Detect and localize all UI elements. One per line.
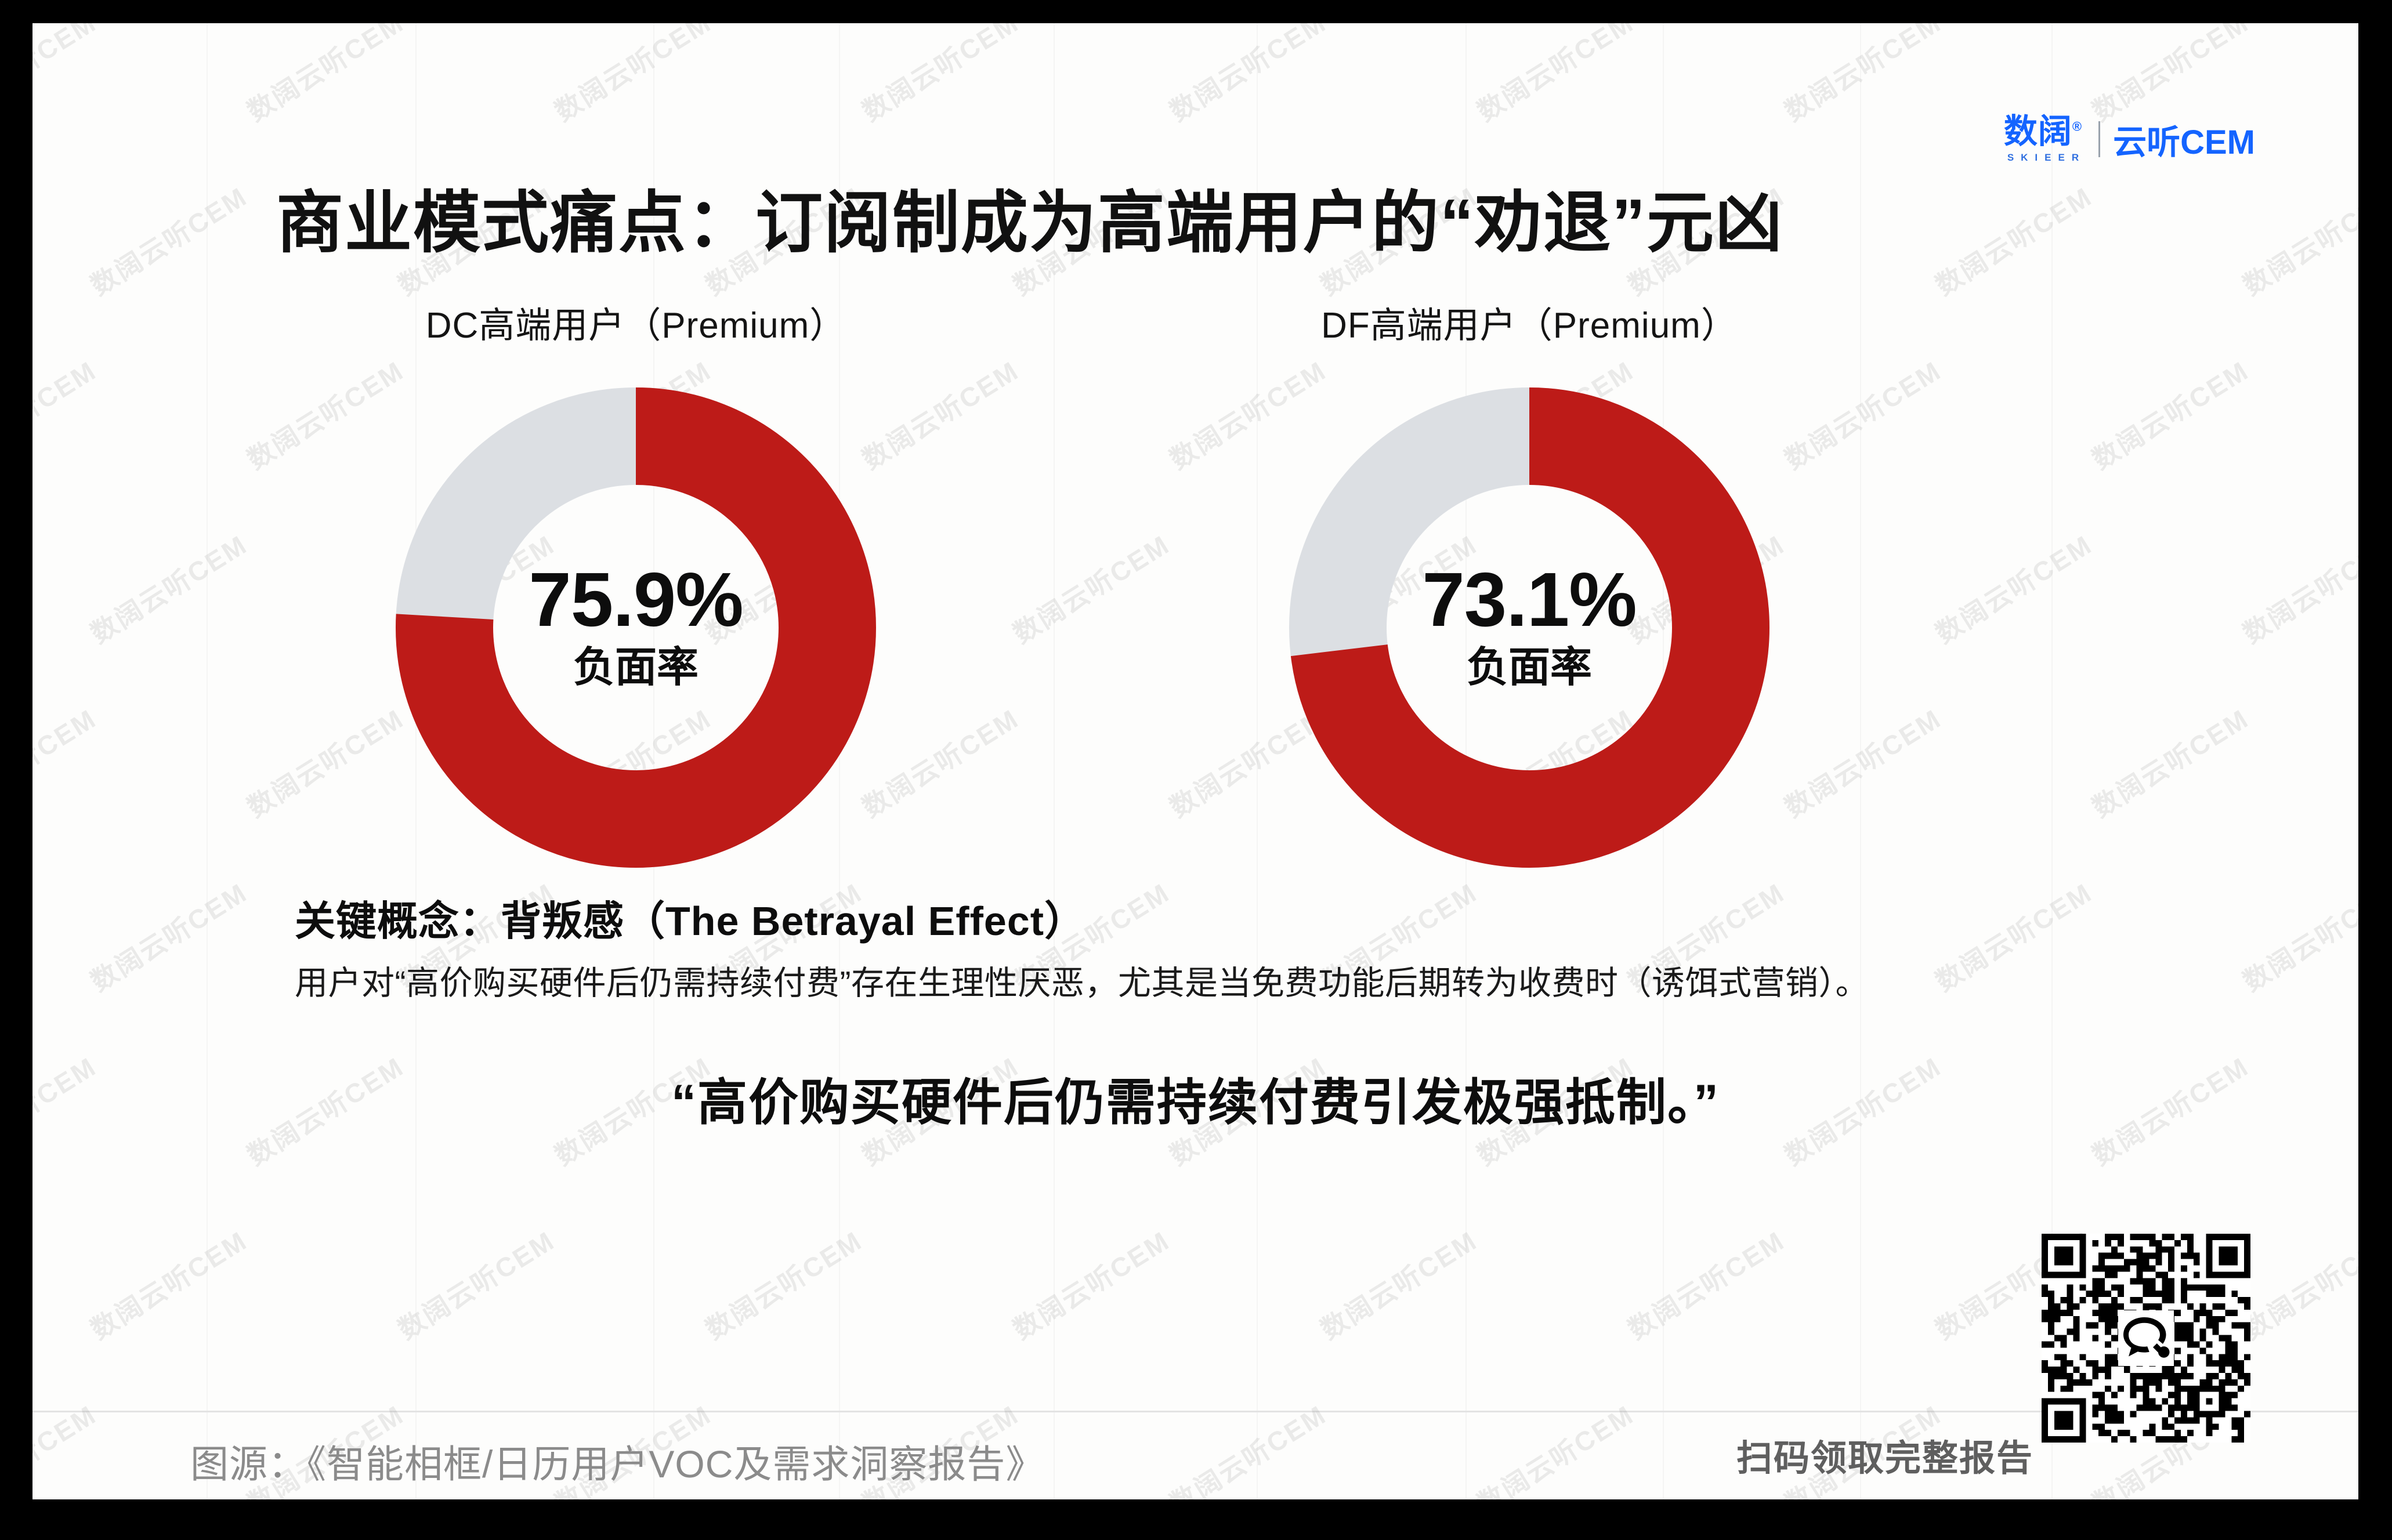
slide-canvas: 数阔® SKIEER 云听CEM 商业模式痛点：订阅制成为高端用户的“劝退”元凶… [32,23,2358,1499]
donut-value-dc: 75.9% [529,561,743,638]
watermark-text: 数阔云听CEM [697,1220,869,1347]
watermark-text: 数阔云听CEM [32,350,103,477]
footer-source-text: 图源：《智能相框/日历用户VOC及需求洞察报告》 [190,1433,1044,1489]
watermark-text: 数阔云听CEM [547,23,718,129]
footer-cta-text: 扫码领取完整报告 [1736,1429,2033,1481]
donut-center-dc: 75.9% 负面率 [392,384,880,871]
footer-divider [32,1411,2358,1412]
watermark-text: 数阔云听CEM [32,23,103,129]
chart-panel-df: DF高端用户（Premium） 73.1% 负面率 [1123,296,1935,871]
chart-title-dc: DC高端用户（Premium） [230,296,1042,348]
brand-logo: 数阔® SKIEER 云听CEM [2000,115,2255,164]
watermark-text: 数阔云听CEM [2235,1220,2358,1347]
watermark-text: 数阔云听CEM [2084,350,2256,477]
watermark-text: 数阔云听CEM [1161,23,1333,129]
chart-panel-dc: DC高端用户（Premium） 75.9% 负面率 [230,296,1042,871]
watermark-text: 数阔云听CEM [82,872,254,999]
watermark-text: 数阔云听CEM [1620,1220,1792,1347]
donut-chart-df: 73.1% 负面率 [1286,384,1773,871]
watermark-text: 数阔云听CEM [1469,1394,1641,1499]
donut-sublabel-dc: 负面率 [573,642,699,694]
registered-trademark-icon: ® [2072,119,2082,134]
pull-quote: “高价购买硬件后仍需持续付费引发极强抵制。” [32,1061,2358,1134]
watermark-text: 数阔云听CEM [1005,1220,1177,1347]
brand-name-cn: 数阔® [2004,115,2082,148]
donut-center-df: 73.1% 负面率 [1286,384,1773,871]
product-name: 云听CEM [2113,115,2255,164]
watermark-text: 数阔云听CEM [1469,23,1641,129]
logo-divider [2098,121,2100,157]
brand-mark: 数阔® SKIEER [2000,115,2086,164]
watermark-text: 数阔云听CEM [82,176,254,303]
watermark-text: 数阔云听CEM [82,1220,254,1347]
paper-seam [207,23,208,1499]
chat-bubble-icon [2118,1310,2174,1366]
chart-title-df: DF高端用户（Premium） [1123,296,1935,348]
key-concept-headline: 关键概念：背叛感（The Betrayal Effect） [295,889,1869,947]
watermark-text: 数阔云听CEM [82,524,254,651]
watermark-text: 数阔云听CEM [1927,176,2099,303]
donut-chart-dc: 75.9% 负面率 [392,384,880,871]
watermark-text: 数阔云听CEM [854,23,1026,129]
watermark-text: 数阔云听CEM [2235,176,2358,303]
watermark-text: 数阔云听CEM [32,1394,103,1499]
watermark-text: 数阔云听CEM [1927,524,2099,651]
donut-value-df: 73.1% [1422,561,1636,638]
watermark-text: 数阔云听CEM [32,698,103,825]
brand-name-pinyin: SKIEER [2000,152,2086,164]
watermark-text: 数阔云听CEM [1776,23,1948,129]
donut-sublabel-df: 负面率 [1467,642,1592,694]
page-title: 商业模式痛点：订阅制成为高端用户的“劝退”元凶 [276,168,1783,266]
qr-code[interactable] [2042,1234,2250,1443]
watermark-text: 数阔云听CEM [239,23,411,129]
watermark-text: 数阔云听CEM [2084,698,2256,825]
watermark-text: 数阔云听CEM [1312,1220,1484,1347]
key-concept-block: 关键概念：背叛感（The Betrayal Effect） 用户对“高价购买硬件… [295,889,1869,1004]
watermark-text: 数阔云听CEM [1161,1394,1333,1499]
watermark-text: 数阔云听CEM [1927,872,2099,999]
watermark-text: 数阔云听CEM [2084,23,2256,129]
watermark-text: 数阔云听CEM [2235,524,2358,651]
key-concept-body: 用户对“高价购买硬件后仍需持续付费”存在生理性厌恶，尤其是当免费功能后期转为收费… [295,956,1869,1004]
watermark-text: 数阔云听CEM [2235,872,2358,999]
